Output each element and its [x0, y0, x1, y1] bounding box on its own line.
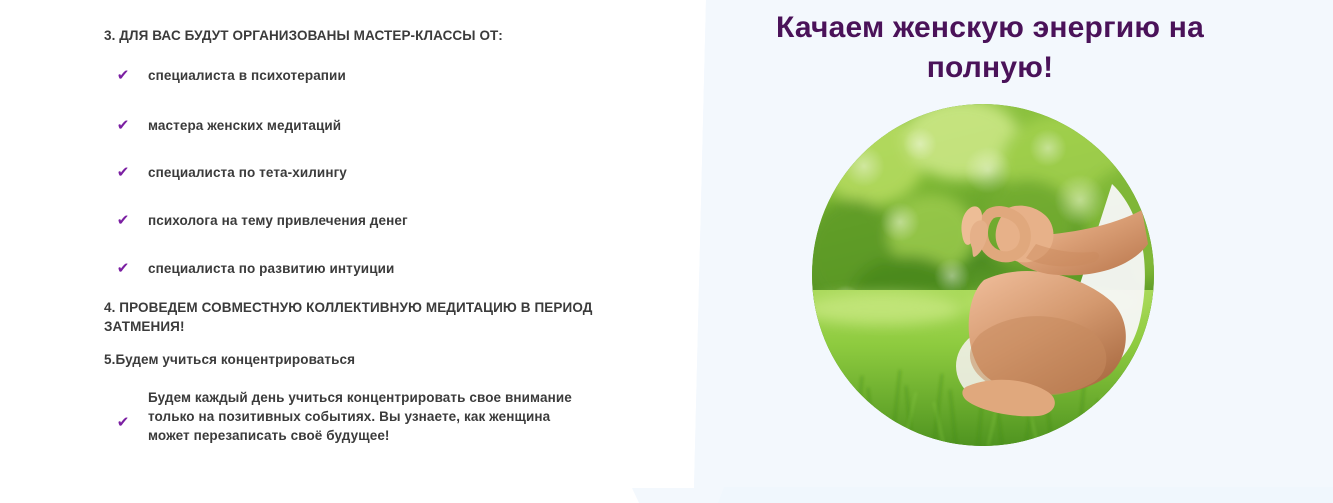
panel-shape-lower-band [718, 487, 1333, 503]
list-item: ✔ специалиста в психотерапии [104, 66, 624, 85]
list-item: ✔ мастера женских медитаций [104, 116, 624, 135]
meditation-photo [812, 104, 1154, 446]
slide-root: 3. ДЛЯ ВАС БУДУТ ОРГАНИЗОВАНЫ МАСТЕР-КЛА… [0, 0, 1333, 503]
list-item-label: Будем каждый день учиться концентрироват… [148, 388, 588, 445]
list-item-final: ✔ Будем каждый день учиться концентриров… [104, 388, 604, 445]
list-item-label: психолога на тему привлечения денег [148, 211, 624, 230]
check-icon: ✔ [113, 261, 133, 276]
check-icon: ✔ [113, 118, 133, 133]
list-item-label: мастера женских медитаций [148, 116, 624, 135]
list-item-label: специалиста по развитию интуиции [148, 259, 624, 278]
left-content-column: 3. ДЛЯ ВАС БУДУТ ОРГАНИЗОВАНЫ МАСТЕР-КЛА… [0, 0, 640, 503]
heading-item-5: 5.Будем учиться концентрироваться [104, 350, 620, 369]
list-item: ✔ психолога на тему привлечения денег [104, 211, 624, 230]
list-item: ✔ специалиста по тета-хилингу [104, 163, 624, 182]
list-item-label: специалиста по тета-хилингу [148, 163, 624, 182]
heading-item-3: 3. ДЛЯ ВАС БУДУТ ОРГАНИЗОВАНЫ МАСТЕР-КЛА… [104, 26, 620, 45]
page-title: Качаем женскую энергию на полную! [722, 8, 1258, 88]
check-icon: ✔ [113, 68, 133, 83]
check-icon: ✔ [113, 165, 133, 180]
check-icon: ✔ [113, 213, 133, 228]
list-item-label: специалиста в психотерапии [148, 66, 624, 85]
heading-item-4: 4. ПРОВЕДЕМ СОВМЕСТНУЮ КОЛЛЕКТИВНУЮ МЕДИ… [104, 298, 620, 336]
check-icon: ✔ [113, 415, 133, 430]
list-item: ✔ специалиста по развитию интуиции [104, 259, 624, 278]
